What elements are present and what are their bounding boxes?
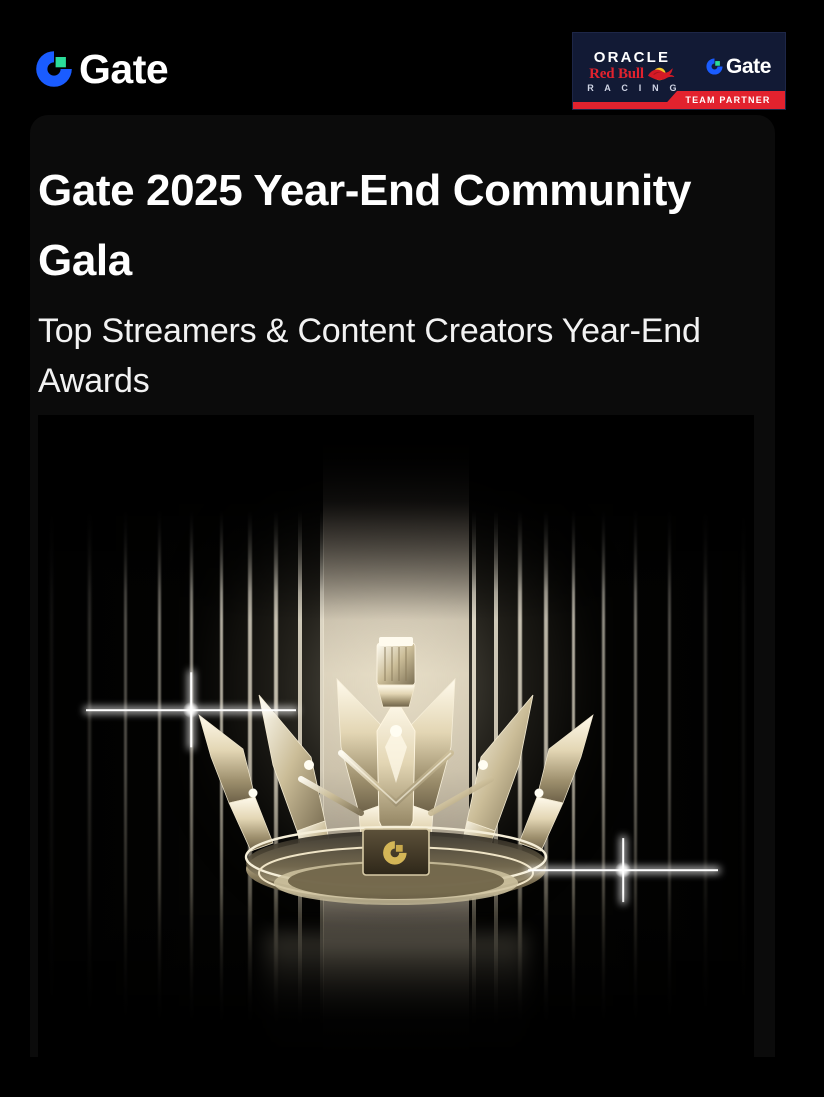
red-bull-icon [647,66,675,82]
page-bottom-fade [0,1057,824,1097]
gate-logo-icon [705,57,724,76]
article-card: Gate 2025 Year-End Community Gala Top St… [30,115,775,1097]
gate-brand-logo[interactable]: Gate [33,48,168,90]
crown-trophy [181,607,611,937]
team-partner-ribbon: TEAM PARTNER [661,91,785,109]
badge-gate-name: Gate [726,56,771,77]
page-subtitle: Top Streamers & Content Creators Year-En… [38,307,738,407]
article-page: Gate ORACLE Red Bull R A C I N G [0,0,824,1097]
page-title: Gate 2025 Year-End Community Gala [38,156,773,295]
team-partner-label: TEAM PARTNER [685,96,770,105]
gate-logo-icon [33,48,75,90]
gate-brand-name: Gate [79,49,168,90]
oracle-label: ORACLE [594,50,671,66]
stage-backdrop [38,415,754,1097]
red-bull-label: Red Bull [589,67,644,83]
top-bar: Gate ORACLE Red Bull R A C I N G [0,0,824,115]
hero-image [38,415,754,1097]
racing-label: R A C I N G [583,84,681,94]
red-bull-racing-partner-badge[interactable]: ORACLE Red Bull R A C I N G [572,32,786,110]
vignette-top [38,415,754,620]
